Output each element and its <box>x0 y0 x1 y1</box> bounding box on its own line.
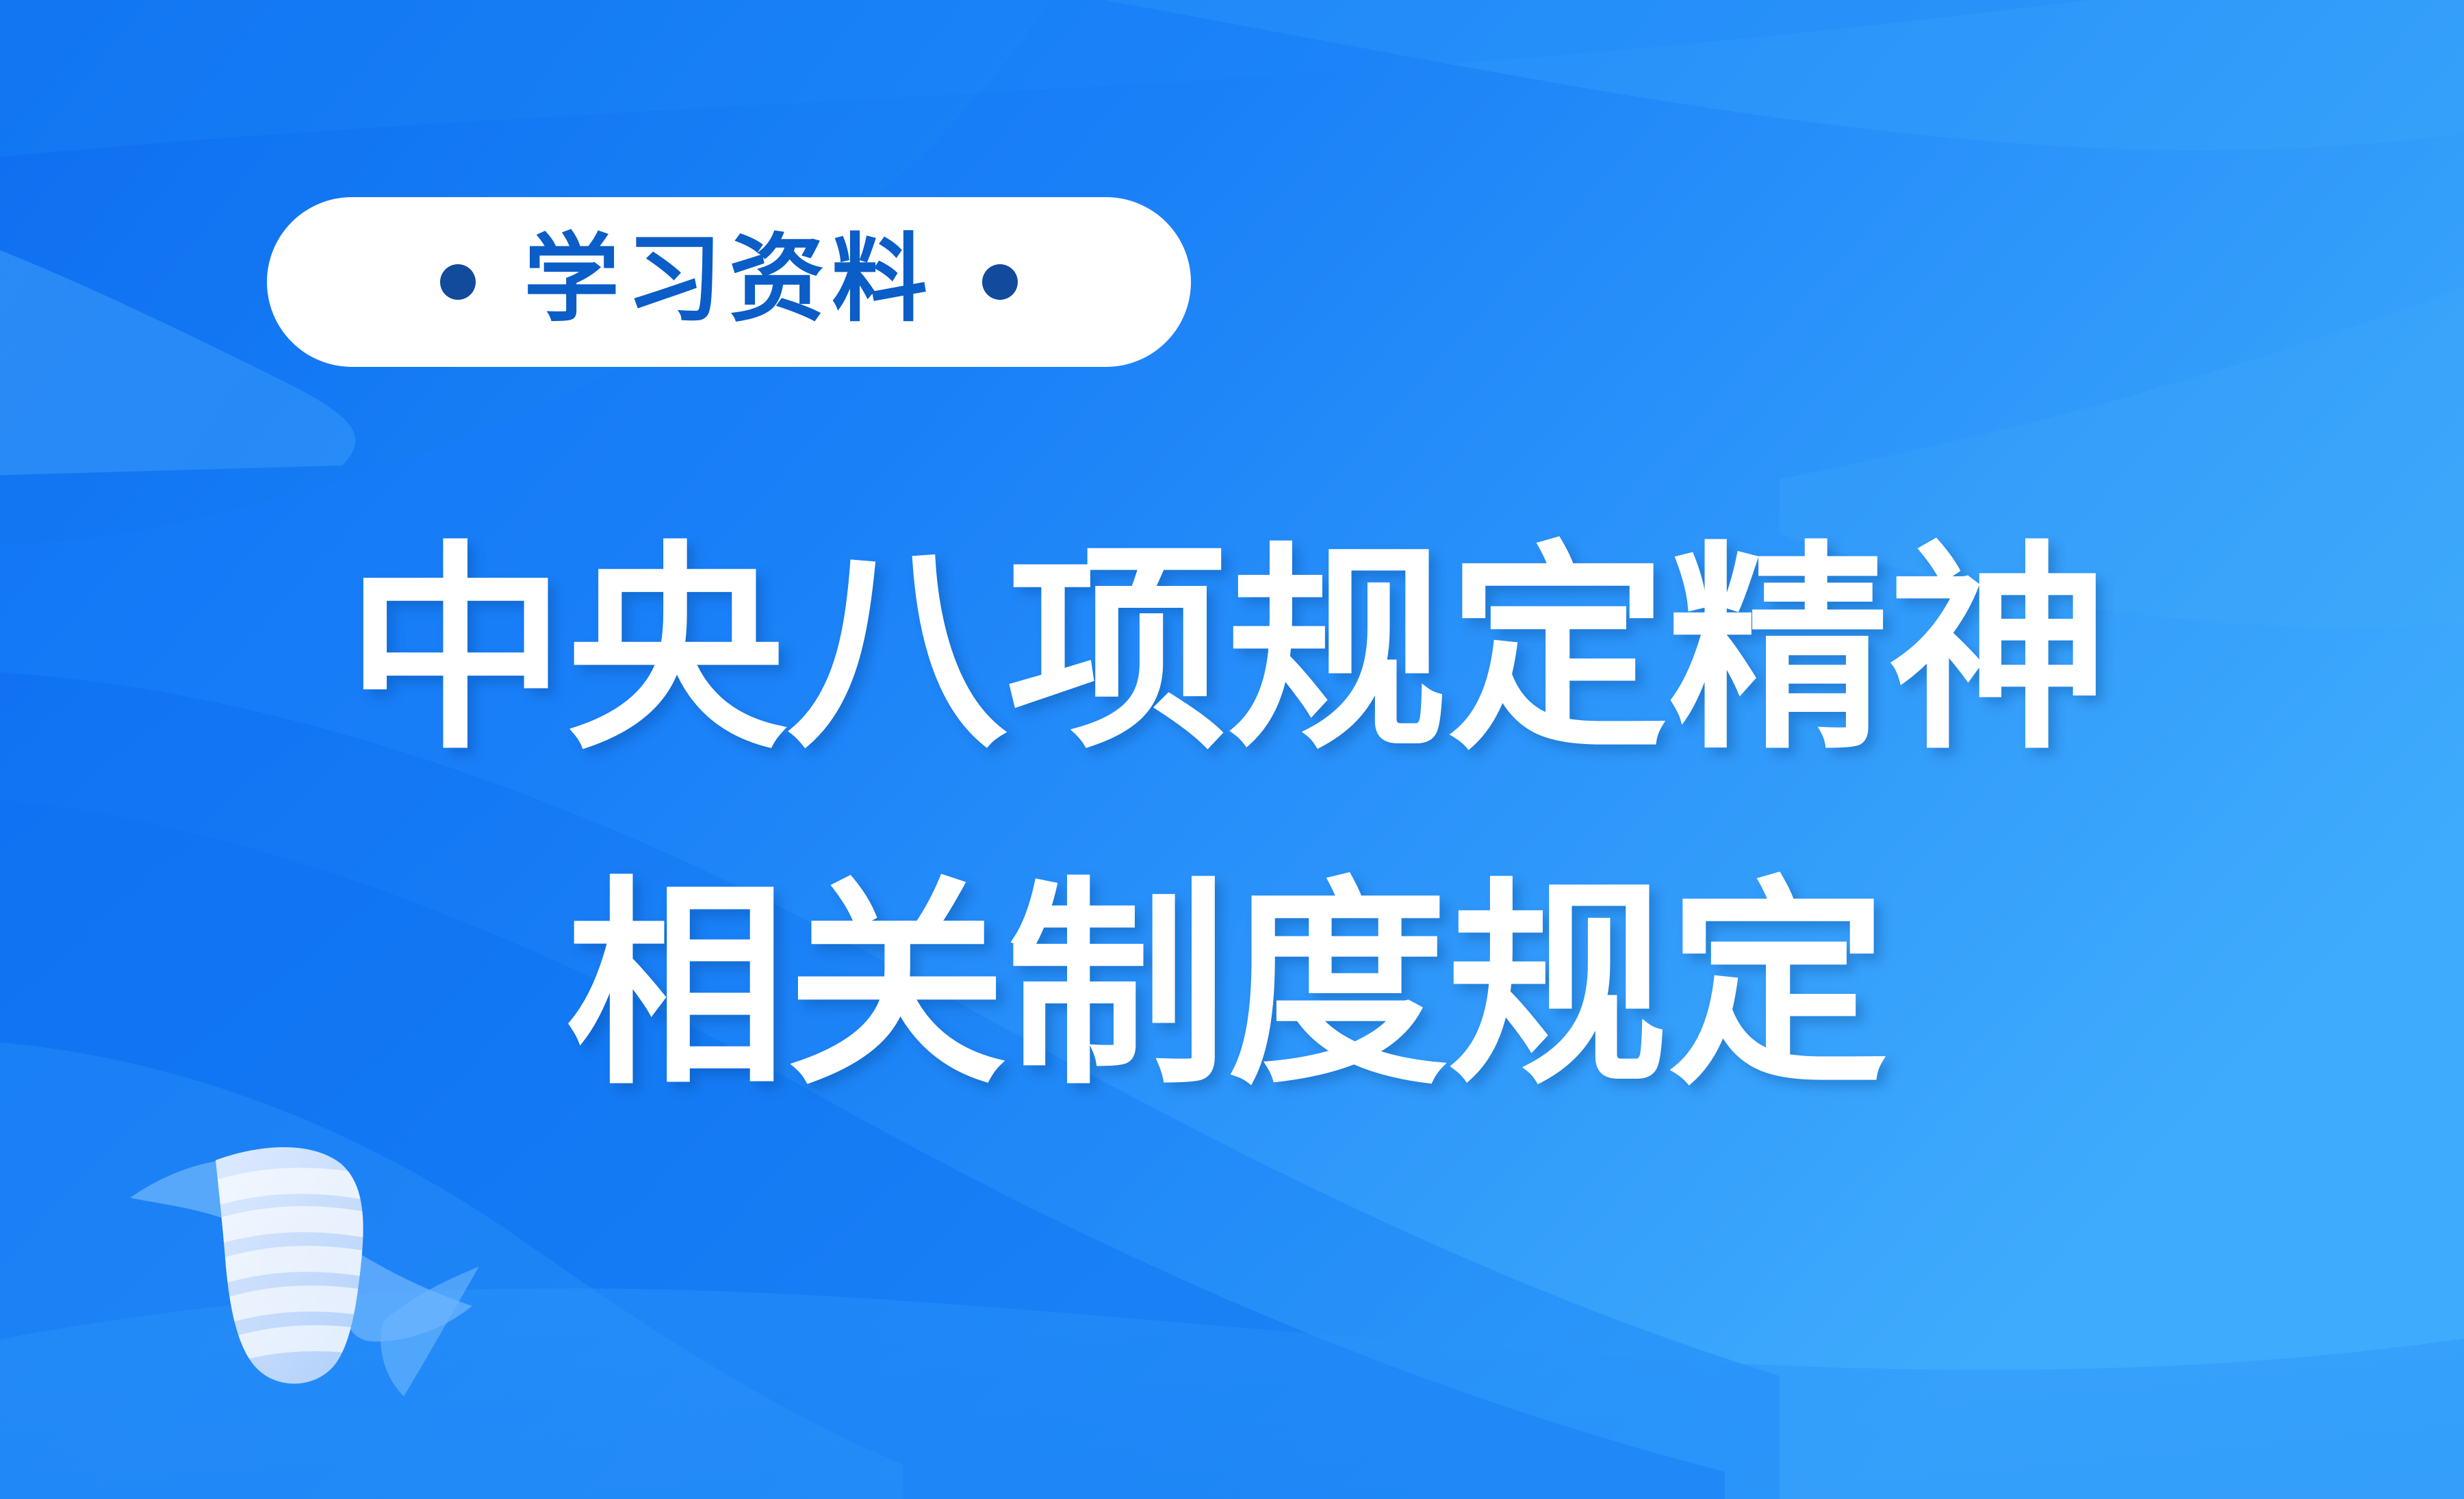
poster-canvas: 学习资料 中央八项规定精神 相关制度规定 <box>0 0 2464 1499</box>
page-title: 中央八项规定精神 相关制度规定 <box>0 541 2464 1097</box>
study-material-badge: 学习资料 <box>267 197 1191 367</box>
bullet-dot-icon-right <box>982 264 1018 300</box>
title-line-1: 中央八项规定精神 <box>0 541 2464 761</box>
bullet-dot-icon-left <box>440 264 476 300</box>
curled-paper-icon <box>89 1136 513 1410</box>
title-line-2: 相关制度规定 <box>0 876 2464 1097</box>
badge-label: 学习资料 <box>524 232 934 332</box>
